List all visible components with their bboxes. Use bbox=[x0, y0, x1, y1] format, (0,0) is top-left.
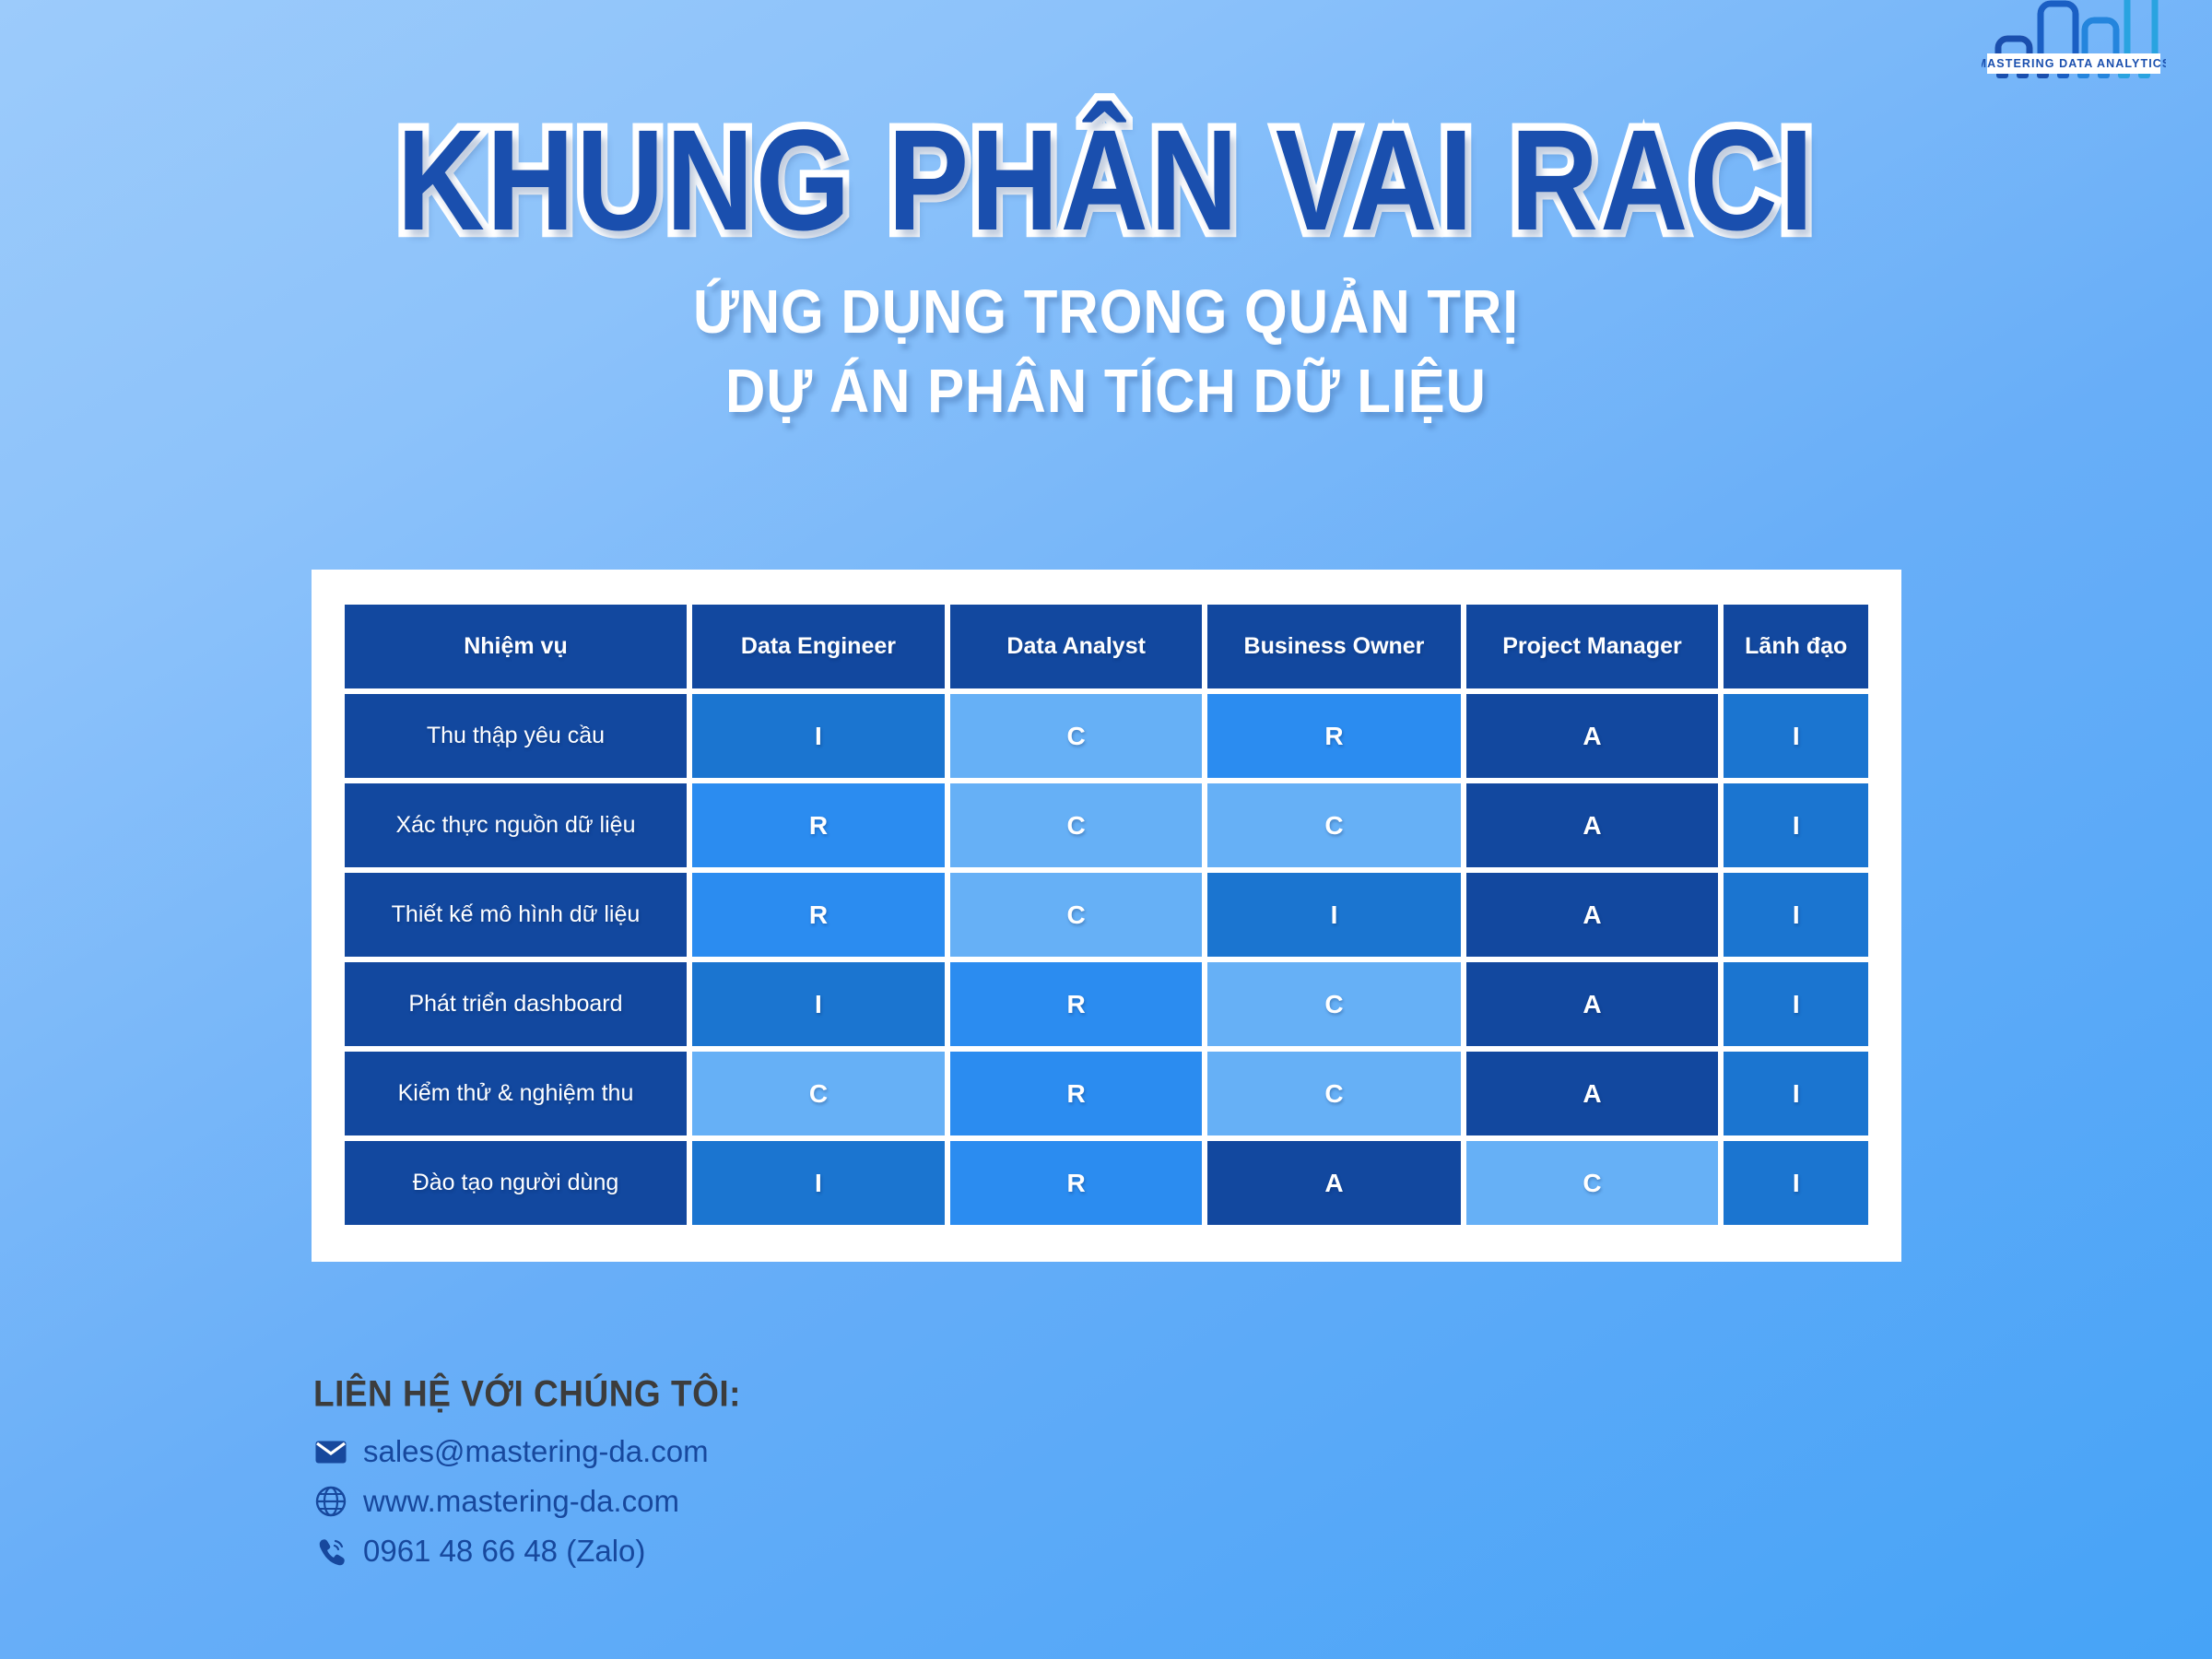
contact-phone-text: 0961 48 66 48 (Zalo) bbox=[363, 1534, 645, 1569]
contact-title: LIÊN HỆ VỚI CHÚNG TÔI: bbox=[313, 1373, 741, 1415]
row-task-label: Kiểm thử & nghiệm thu bbox=[345, 1052, 687, 1135]
table-row: Thu thập yêu cầuICRAI bbox=[345, 694, 1868, 778]
raci-cell: C bbox=[1207, 1052, 1460, 1135]
raci-cell: A bbox=[1466, 1052, 1719, 1135]
row-task-label: Phát triển dashboard bbox=[345, 962, 687, 1046]
table-header-row: Nhiệm vụ Data Engineer Data Analyst Busi… bbox=[345, 605, 1868, 688]
raci-cell: R bbox=[692, 783, 945, 867]
raci-table-card: Nhiệm vụ Data Engineer Data Analyst Busi… bbox=[312, 570, 1901, 1262]
column-header-task: Nhiệm vụ bbox=[345, 605, 687, 688]
raci-cell: A bbox=[1207, 1141, 1460, 1225]
raci-cell: I bbox=[1724, 962, 1868, 1046]
row-task-label: Xác thực nguồn dữ liệu bbox=[345, 783, 687, 867]
contact-item-website[interactable]: www.mastering-da.com bbox=[313, 1484, 741, 1519]
raci-cell: C bbox=[950, 694, 1202, 778]
table-row: Phát triển dashboardIRCAI bbox=[345, 962, 1868, 1046]
raci-cell: I bbox=[692, 962, 945, 1046]
raci-cell: C bbox=[1207, 783, 1460, 867]
subtitle-line-1: ỨNG DỤNG TRONG QUẢN TRỊ bbox=[0, 273, 2212, 352]
table-body: Thu thập yêu cầuICRAIXác thực nguồn dữ l… bbox=[345, 694, 1868, 1225]
row-task-label: Thiết kế mô hình dữ liệu bbox=[345, 873, 687, 957]
column-header-data-engineer: Data Engineer bbox=[692, 605, 945, 688]
raci-cell: R bbox=[692, 873, 945, 957]
raci-table: Nhiệm vụ Data Engineer Data Analyst Busi… bbox=[339, 599, 1874, 1230]
raci-cell: R bbox=[1207, 694, 1460, 778]
table-row: Xác thực nguồn dữ liệuRCCAI bbox=[345, 783, 1868, 867]
column-header-business-owner: Business Owner bbox=[1207, 605, 1460, 688]
column-header-project-manager: Project Manager bbox=[1466, 605, 1719, 688]
contact-section: LIÊN HỆ VỚI CHÚNG TÔI: sales@mastering-d… bbox=[313, 1373, 741, 1583]
row-task-label: Thu thập yêu cầu bbox=[345, 694, 687, 778]
raci-cell: C bbox=[1466, 1141, 1719, 1225]
table-row: Kiểm thử & nghiệm thuCRCAI bbox=[345, 1052, 1868, 1135]
phone-icon bbox=[313, 1534, 348, 1569]
column-header-data-analyst: Data Analyst bbox=[950, 605, 1202, 688]
raci-cell: I bbox=[692, 1141, 945, 1225]
raci-cell: A bbox=[1466, 694, 1719, 778]
globe-icon bbox=[313, 1484, 348, 1519]
table-row: Thiết kế mô hình dữ liệuRCIAI bbox=[345, 873, 1868, 957]
raci-cell: C bbox=[692, 1052, 945, 1135]
raci-cell: A bbox=[1466, 962, 1719, 1046]
header: KHUNG PHÂN VAI RACI ỨNG DỤNG TRONG QUẢN … bbox=[0, 0, 2212, 415]
contact-email-text: sales@mastering-da.com bbox=[363, 1434, 709, 1469]
raci-cell: C bbox=[950, 783, 1202, 867]
raci-cell: I bbox=[692, 694, 945, 778]
envelope-icon bbox=[313, 1434, 348, 1469]
logo-bar-chart-icon: MASTERING DATA ANALYTICS bbox=[1982, 0, 2166, 96]
raci-cell: R bbox=[950, 1052, 1202, 1135]
raci-cell: A bbox=[1466, 873, 1719, 957]
contact-item-email[interactable]: sales@mastering-da.com bbox=[313, 1434, 741, 1469]
raci-cell: I bbox=[1724, 1052, 1868, 1135]
brand-logo: MASTERING DATA ANALYTICS bbox=[1982, 0, 2166, 96]
row-task-label: Đào tạo người dùng bbox=[345, 1141, 687, 1225]
column-header-leadership: Lãnh đạo bbox=[1724, 605, 1868, 688]
raci-cell: I bbox=[1724, 873, 1868, 957]
logo-text: MASTERING DATA ANALYTICS bbox=[1982, 57, 2166, 70]
raci-cell: I bbox=[1724, 694, 1868, 778]
raci-cell: I bbox=[1724, 783, 1868, 867]
page-title: KHUNG PHÂN VAI RACI bbox=[0, 109, 2212, 253]
table-row: Đào tạo người dùngIRACI bbox=[345, 1141, 1868, 1225]
raci-cell: C bbox=[950, 873, 1202, 957]
contact-item-phone[interactable]: 0961 48 66 48 (Zalo) bbox=[313, 1534, 741, 1569]
contact-website-text: www.mastering-da.com bbox=[363, 1484, 679, 1519]
subtitle-line-2: DỰ ÁN PHÂN TÍCH DỮ LIỆU bbox=[0, 352, 2212, 431]
raci-cell: R bbox=[950, 962, 1202, 1046]
raci-cell: C bbox=[1207, 962, 1460, 1046]
page-subtitle: ỨNG DỤNG TRONG QUẢN TRỊ DỰ ÁN PHÂN TÍCH … bbox=[0, 273, 2212, 431]
raci-cell: I bbox=[1207, 873, 1460, 957]
raci-cell: A bbox=[1466, 783, 1719, 867]
raci-cell: I bbox=[1724, 1141, 1868, 1225]
raci-cell: R bbox=[950, 1141, 1202, 1225]
